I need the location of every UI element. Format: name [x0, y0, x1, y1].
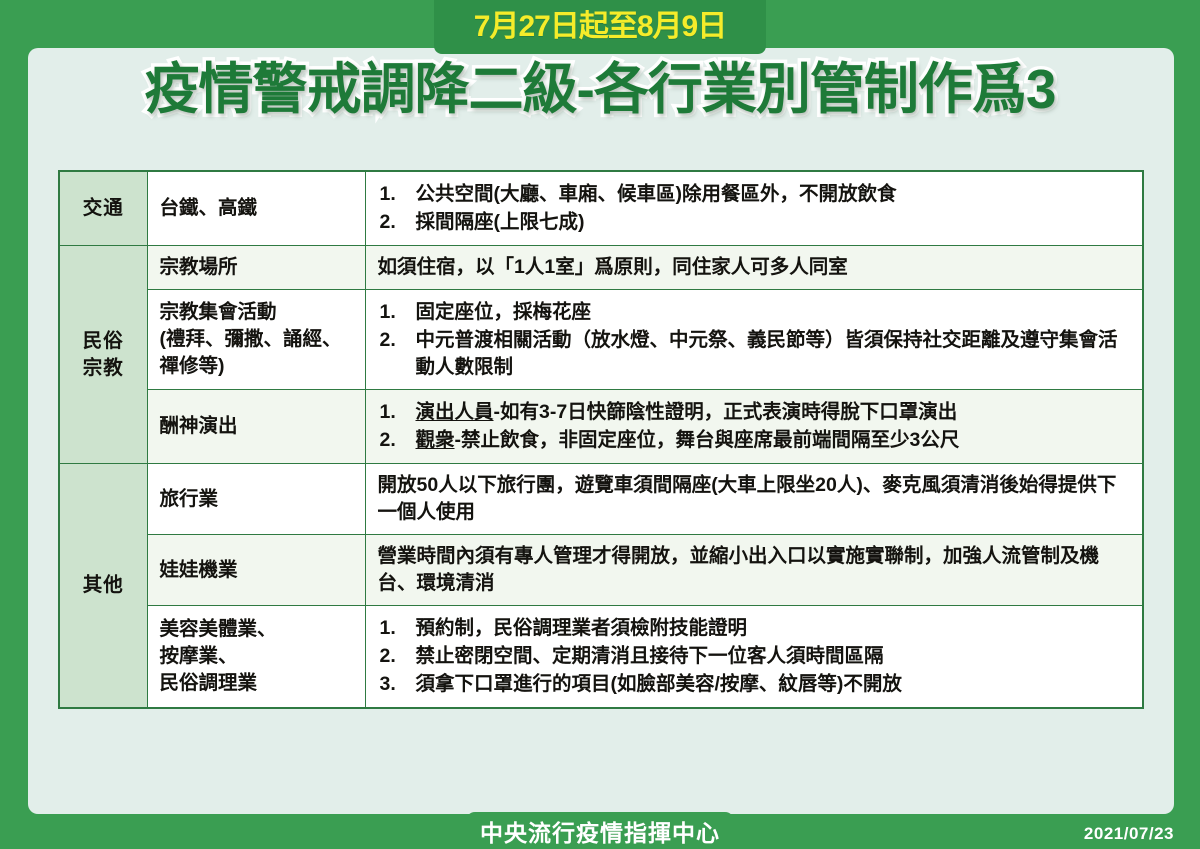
footer-organization-tab: 中央流行疫情指揮中心	[466, 812, 734, 849]
sector-cell: 旅行業	[147, 464, 365, 535]
table-row: 娃娃機業營業時間內須有專人管理才得開放，並縮小出入口以實施實聯制，加強人流管制及…	[59, 535, 1143, 606]
sector-cell: 娃娃機業	[147, 535, 365, 606]
table-row: 美容美體業、按摩業、民俗調理業預約制，民俗調理業者須檢附技能證明禁止密閉空間、定…	[59, 605, 1143, 707]
category-cell: 民俗宗教	[59, 245, 147, 463]
rule-item: 須拿下口罩進行的項目(如臉部美容/按摩、紋唇等)不開放	[378, 671, 1131, 698]
rule-item: 演出人員-如有3-7日快篩陰性證明，正式表演時得脫下口罩演出	[378, 399, 1131, 426]
sector-cell: 台鐵、高鐵	[147, 171, 365, 245]
rules-cell: 公共空間(大廳、車廂、候車區)除用餐區外，不開放飲食採間隔座(上限七成)	[365, 171, 1143, 245]
table-row: 民俗宗教宗教場所如須住宿，以「1人1室」爲原則，同住家人可多人同室	[59, 245, 1143, 289]
page-title: 疫情警戒調降二級-各行業別管制作爲3	[0, 58, 1200, 121]
regulations-table-container: 交通台鐵、高鐵公共空間(大廳、車廂、候車區)除用餐區外，不開放飲食採間隔座(上限…	[58, 170, 1144, 709]
regulations-table: 交通台鐵、高鐵公共空間(大廳、車廂、候車區)除用餐區外，不開放飲食採間隔座(上限…	[58, 170, 1144, 709]
rules-cell: 預約制，民俗調理業者須檢附技能證明禁止密閉空間、定期清消且接待下一位客人須時間區…	[365, 605, 1143, 707]
sector-cell: 宗教場所	[147, 245, 365, 289]
footer-date: 2021/07/23	[1084, 824, 1174, 844]
rule-list: 預約制，民俗調理業者須檢附技能證明禁止密閉空間、定期清消且接待下一位客人須時間區…	[378, 615, 1131, 698]
rule-item: 公共空間(大廳、車廂、候車區)除用餐區外，不開放飲食	[378, 181, 1131, 208]
footer-organization-label: 中央流行疫情指揮中心	[480, 814, 720, 848]
rule-item-subject: 觀衆	[416, 429, 455, 451]
sector-cell: 美容美體業、按摩業、民俗調理業	[147, 605, 365, 707]
rule-item: 預約制，民俗調理業者須檢附技能證明	[378, 615, 1131, 642]
category-cell: 交通	[59, 171, 147, 245]
rules-cell: 如須住宿，以「1人1室」爲原則，同住家人可多人同室	[365, 245, 1143, 289]
rule-item: 觀衆-禁止飲食，非固定座位，舞台與座席最前端間隔至少3公尺	[378, 427, 1131, 454]
rule-paragraph: 營業時間內須有專人管理才得開放，並縮小出入口以實施實聯制，加強人流管制及機台、環…	[378, 543, 1131, 597]
table-row: 酬神演出演出人員-如有3-7日快篩陰性證明，正式表演時得脫下口罩演出觀衆-禁止飲…	[59, 390, 1143, 464]
rule-list: 公共空間(大廳、車廂、候車區)除用餐區外，不開放飲食採間隔座(上限七成)	[378, 181, 1131, 236]
rule-paragraph: 如須住宿，以「1人1室」爲原則，同住家人可多人同室	[378, 254, 1131, 281]
rule-list: 演出人員-如有3-7日快篩陰性證明，正式表演時得脫下口罩演出觀衆-禁止飲食，非固…	[378, 399, 1131, 454]
rule-list: 固定座位，採梅花座中元普渡相關活動（放水燈、中元祭、義民節等）皆須保持社交距離及…	[378, 299, 1131, 381]
rules-cell: 開放50人以下旅行團，遊覽車須間隔座(大車上限坐20人)、麥克風須清消後始得提供…	[365, 464, 1143, 535]
table-row: 交通台鐵、高鐵公共空間(大廳、車廂、候車區)除用餐區外，不開放飲食採間隔座(上限…	[59, 171, 1143, 245]
table-row: 宗教集會活動(禮拜、彌撒、誦經、禪修等)固定座位，採梅花座中元普渡相關活動（放水…	[59, 289, 1143, 390]
sector-cell: 酬神演出	[147, 390, 365, 464]
rule-item: 採間隔座(上限七成)	[378, 209, 1131, 236]
table-row: 其他旅行業開放50人以下旅行團，遊覽車須間隔座(大車上限坐20人)、麥克風須清消…	[59, 464, 1143, 535]
date-range-banner: 7月27日起至8月9日	[434, 0, 766, 54]
sector-cell: 宗教集會活動(禮拜、彌撒、誦經、禪修等)	[147, 289, 365, 390]
regulations-table-body: 交通台鐵、高鐵公共空間(大廳、車廂、候車區)除用餐區外，不開放飲食採間隔座(上限…	[59, 171, 1143, 708]
rule-item: 固定座位，採梅花座	[378, 299, 1131, 326]
rule-item: 禁止密閉空間、定期清消且接待下一位客人須時間區隔	[378, 643, 1131, 670]
date-range-text: 7月27日起至8月9日	[474, 12, 726, 42]
rule-item: 中元普渡相關活動（放水燈、中元祭、義民節等）皆須保持社交距離及遵守集會活動人數限…	[378, 327, 1131, 381]
rule-item-subject: 演出人員	[416, 401, 494, 423]
category-cell: 其他	[59, 464, 147, 708]
rules-cell: 演出人員-如有3-7日快篩陰性證明，正式表演時得脫下口罩演出觀衆-禁止飲食，非固…	[365, 390, 1143, 464]
rule-paragraph: 開放50人以下旅行團，遊覽車須間隔座(大車上限坐20人)、麥克風須清消後始得提供…	[378, 472, 1131, 526]
rules-cell: 固定座位，採梅花座中元普渡相關活動（放水燈、中元祭、義民節等）皆須保持社交距離及…	[365, 289, 1143, 390]
rules-cell: 營業時間內須有專人管理才得開放，並縮小出入口以實施實聯制，加強人流管制及機台、環…	[365, 535, 1143, 606]
